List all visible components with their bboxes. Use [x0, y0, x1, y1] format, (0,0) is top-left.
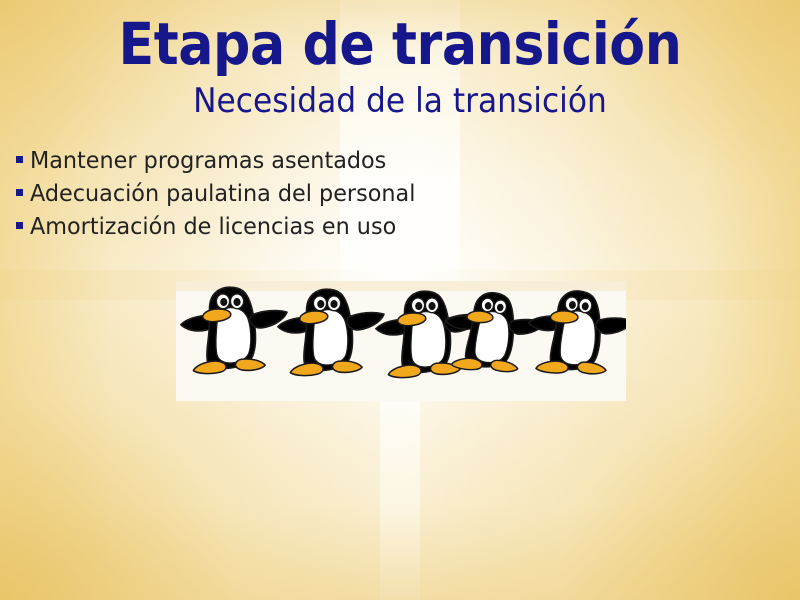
- penguins-illustration: .pbody { stroke: #1a1a1a; stroke-width: …: [176, 281, 626, 401]
- list-item: Adecuación paulatina del personal: [16, 180, 636, 208]
- penguin-red: [440, 287, 548, 380]
- slide-title: Etapa de transición: [40, 13, 760, 75]
- list-item: Mantener programas asentados: [16, 147, 636, 175]
- bullet-text: Adecuación paulatina del personal: [30, 180, 415, 208]
- penguin-blue: [181, 287, 287, 373]
- slide-canvas: Etapa de transición Necesidad de la tran…: [0, 0, 800, 600]
- penguin-magenta: [524, 286, 626, 381]
- list-item: Amortización de licencias en uso: [16, 213, 636, 241]
- square-bullet-icon: [16, 156, 23, 163]
- slide-subtitle: Necesidad de la transición: [32, 82, 768, 120]
- square-bullet-icon: [16, 222, 23, 229]
- bullet-list: Mantener programas asentados Adecuación …: [16, 147, 636, 246]
- bullet-text: Mantener programas asentados: [30, 147, 386, 175]
- square-bullet-icon: [16, 189, 23, 196]
- dancing-penguins-image: .pbody { stroke: #1a1a1a; stroke-width: …: [176, 281, 626, 401]
- bullet-text: Amortización de licencias en uso: [30, 213, 396, 241]
- penguin-green: [278, 289, 384, 375]
